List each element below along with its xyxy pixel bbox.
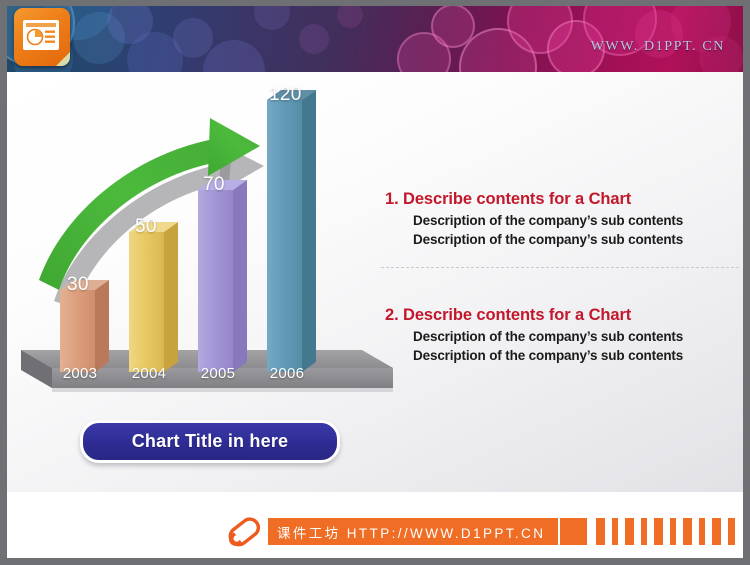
bar-3-side <box>233 180 247 372</box>
description-panel: 1. Describe contents for a Chart Descrip… <box>379 72 743 492</box>
bar-2-side <box>164 222 178 372</box>
block-2-line-1: Description of the company’s sub content… <box>413 329 741 344</box>
bar-2-front <box>129 232 164 372</box>
footer-stripe <box>641 518 647 545</box>
bar-3-front <box>198 190 233 372</box>
powerpoint-glyph <box>23 18 61 56</box>
bar-1-front <box>60 290 95 372</box>
header-website-url: WWW. D1PPT. CN <box>591 39 725 55</box>
category-label: 2006 <box>261 365 313 382</box>
bokeh-circle <box>299 24 329 54</box>
block-2-heading: 2. Describe contents for a Chart <box>385 306 741 325</box>
platform-shadow <box>52 388 393 392</box>
powerpoint-icon[interactable] <box>14 8 70 66</box>
bar-chart: 30 50 70 120 2003 2004 2005 2006 Chart T… <box>7 72 407 492</box>
bokeh-circle <box>459 28 537 72</box>
footer-stripe <box>612 518 618 545</box>
bokeh-circle <box>431 6 475 48</box>
bar-value-label: 70 <box>203 174 225 196</box>
bokeh-circle <box>507 6 573 54</box>
chart-title-button[interactable]: Chart Title in here <box>80 420 340 463</box>
footer-stripe <box>728 518 735 545</box>
footer-stripe <box>596 518 605 545</box>
category-label: 2003 <box>54 365 106 382</box>
bar-value-label: 50 <box>135 216 157 238</box>
footer-stripe <box>654 518 663 545</box>
bokeh-circle <box>254 6 290 30</box>
bokeh-circle <box>173 18 213 58</box>
footer-brand-band: 课件工坊 HTTP://WWW.D1PPT.CN <box>268 518 558 545</box>
bar-4-side <box>302 90 316 372</box>
description-block-2: 2. Describe contents for a Chart Descrip… <box>385 306 741 363</box>
bar-value-label: 120 <box>269 84 302 106</box>
slide-page: WWW. D1PPT. CN <box>0 0 750 565</box>
block-1-line-1: Description of the company’s sub content… <box>413 213 741 228</box>
footer-stripe <box>712 518 721 545</box>
block-1-heading: 1. Describe contents for a Chart <box>385 190 741 209</box>
bar-value-label: 30 <box>67 274 89 296</box>
bokeh-circle <box>203 40 265 72</box>
bokeh-circle <box>107 6 153 44</box>
block-1-line-2: Description of the company’s sub content… <box>413 232 741 247</box>
bar-1-side <box>95 280 109 372</box>
footer-brand-text: 课件工坊 HTTP://WWW.D1PPT.CN <box>277 522 545 542</box>
bokeh-circle <box>127 32 183 72</box>
bar-4-front <box>267 100 302 372</box>
frame-border-left <box>0 0 7 565</box>
frame-border-right <box>743 0 750 565</box>
bokeh-circle <box>397 32 451 72</box>
pen-icon <box>222 512 268 552</box>
bokeh-circle <box>337 6 363 28</box>
description-block-1: 1. Describe contents for a Chart Descrip… <box>385 190 741 247</box>
footer-stripe <box>699 518 705 545</box>
bokeh-circle <box>73 12 125 64</box>
footer-stripe <box>683 518 692 545</box>
slide-content: 30 50 70 120 2003 2004 2005 2006 Chart T… <box>7 72 743 492</box>
frame-border-bottom <box>0 558 750 565</box>
footer-stripe <box>625 518 634 545</box>
header-banner: WWW. D1PPT. CN <box>7 6 743 72</box>
footer-stripe <box>670 518 676 545</box>
category-label: 2004 <box>123 365 175 382</box>
footer-stripe <box>560 518 587 545</box>
section-divider <box>381 267 739 268</box>
chart-title-label: Chart Title in here <box>132 431 289 452</box>
category-label: 2005 <box>192 365 244 382</box>
block-2-line-2: Description of the company’s sub content… <box>413 348 741 363</box>
